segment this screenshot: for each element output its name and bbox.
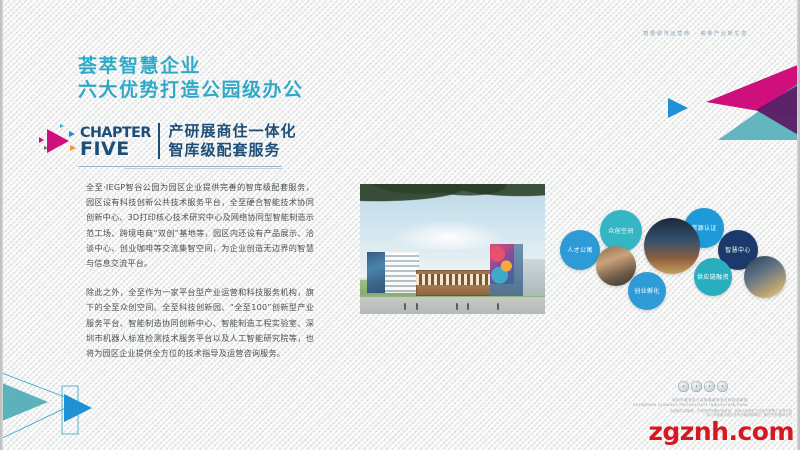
rendering-person: [467, 303, 469, 310]
chapter-subtitle: 产研展商住一体化 智库级配套服务: [168, 122, 296, 160]
slide-left-border: [0, 0, 3, 450]
chapter-underline-primary: [78, 166, 282, 167]
chapter-subtitle-line-1: 产研展商住一体化: [168, 122, 296, 141]
chapter-underline-secondary: [125, 168, 282, 169]
bubble-label-2: 创业孵化: [628, 272, 666, 310]
bubble-photo-conference-hall: [644, 218, 700, 274]
bubble-label-5: 供应链融资: [694, 258, 732, 296]
page-title: 荟萃智慧企业 六大优势打造公园级办公: [78, 54, 304, 102]
person-badge-icon: •: [678, 381, 689, 392]
header-micro-text: 智慧城市运营商 · 荟萃产业新生态: [643, 30, 748, 37]
rendering-building-far: [519, 259, 545, 295]
rendering-mural-art: [490, 244, 514, 284]
site-watermark: zgznh.com: [648, 417, 794, 446]
rendering-person: [497, 303, 499, 310]
rendering-cloud: [393, 220, 504, 249]
watermark-main: zgznh: [648, 417, 728, 446]
rendering-tree-canopy: [360, 184, 545, 215]
body-paragraph-1: 全至·IEGP智谷公园为园区企业提供完善的智库级配套服务，园区设有科技创新公共技…: [86, 180, 314, 271]
campus-rendering: [360, 184, 545, 314]
rendering-building-center-windows: [416, 274, 494, 285]
rendering-building-center: [416, 270, 494, 296]
footer-micro-text: 深圳市宝安区沙井街道新桥全至科技创新园 SHENZHEN QUANZHI TEC…: [633, 398, 748, 408]
footer-micro-line-2: SHENZHEN QUANZHI TECHNOLOGY INNOVATION P…: [633, 403, 748, 408]
title-line-2: 六大优势打造公园级办公: [78, 78, 304, 102]
bubble-photo-indoor-coworking: [596, 246, 636, 286]
play-triangle-icon: [38, 122, 78, 160]
chapter-wordmark: CHAPTER FIVE: [80, 125, 149, 158]
watermark-suffix: .com: [728, 417, 794, 446]
chapter-word-top: CHAPTER: [80, 125, 151, 142]
leaf-badge-icon: •: [691, 381, 702, 392]
service-bubble-cluster: 人才公寓众创空间创业孵化资源认证智慧中心供应链融资: [556, 192, 800, 312]
title-line-1: 荟萃智慧企业: [78, 54, 304, 78]
body-paragraph-2: 除此之外，全至作为一家平台型产业运营和科技服务机构，旗下的全至众创空间、全至科技…: [86, 285, 314, 361]
rendering-person: [456, 303, 458, 310]
rendering-plaza: [360, 297, 545, 314]
rendering-building-left: [367, 252, 419, 294]
rendering-person: [416, 303, 418, 310]
rendering-building-left-facade: [385, 252, 419, 294]
bubble-photo-expo-floor: [744, 256, 786, 298]
chapter-divider: [158, 123, 160, 159]
presentation-slide: 智慧城市运营商 · 荟萃产业新生态 荟萃智慧企业 六大优势打造公园级办公 CHA…: [0, 0, 800, 450]
chapter-word-bottom: FIVE: [80, 141, 149, 158]
chapter-subtitle-line-2: 智库级配套服务: [168, 141, 296, 160]
body-copy: 全至·IEGP智谷公园为园区企业提供完善的智库级配套服务，园区设有科技创新公共技…: [86, 180, 314, 375]
footer-icon-badges: ••••: [678, 381, 728, 392]
gear-badge-icon: •: [717, 381, 728, 392]
bubble-label-0: 人才公寓: [560, 230, 600, 270]
building-badge-icon: •: [704, 381, 715, 392]
chapter-badge: CHAPTER FIVE 产研展商住一体化 智库级配套服务: [38, 122, 297, 160]
corner-triangles-decoration: [660, 62, 800, 172]
